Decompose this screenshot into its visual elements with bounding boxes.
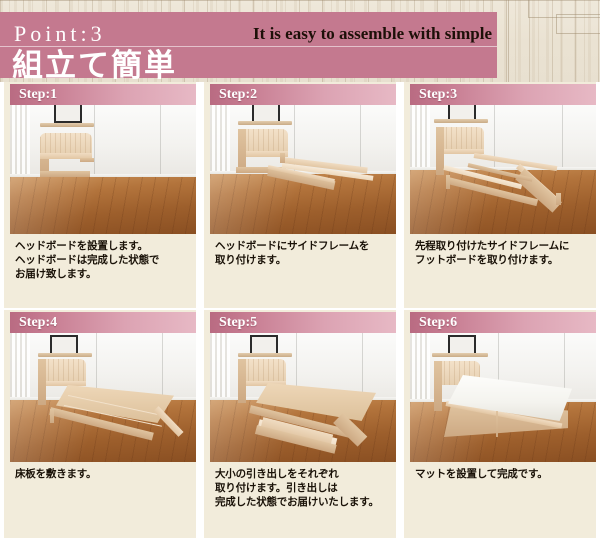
step-label-5: Step:5 xyxy=(219,314,257,331)
wall-shelf xyxy=(238,353,292,357)
base-drawer-seam xyxy=(496,411,498,437)
step-caption-6: マットを設置して完成です。 xyxy=(410,464,596,536)
headboard-leg xyxy=(238,359,246,403)
step-tag-1: Step:1 xyxy=(10,84,196,105)
headboard-panel xyxy=(40,133,92,155)
frame-leg-front xyxy=(446,175,450,189)
step-photo-5 xyxy=(210,333,396,462)
step-panel-1: Step:1 ヘッドボードを設置します。 ヘッドボードは完 xyxy=(4,82,196,310)
wall-shelf xyxy=(432,353,488,357)
right-edge xyxy=(596,82,600,548)
step-caption-text-5: 大小の引き出しをそれぞれ 取り付けます。引き出しは 完成した状態でお届けいたしま… xyxy=(210,464,396,510)
step-caption-1: ヘッドボードを設置します。 ヘッドボードは完成した状態で お届け致します。 xyxy=(10,236,196,308)
frame-connector xyxy=(280,153,285,163)
step-label-3: Step:3 xyxy=(419,86,457,103)
headboard-leg xyxy=(434,361,442,411)
curtain xyxy=(210,333,230,407)
step-caption-3: 先程取り付けたサイドフレームに フットボードを取り付けます。 xyxy=(410,236,596,308)
step-caption-text-6: マットを設置して完成です。 xyxy=(410,464,596,481)
headboard-leg xyxy=(38,359,46,405)
english-tagline: It is easy to assemble with simple xyxy=(172,24,492,44)
left-edge xyxy=(0,82,4,548)
wall-picture-frame xyxy=(250,335,278,355)
banner-divider xyxy=(0,46,497,47)
step-panel-5: Step:5 xyxy=(204,310,396,538)
step-panel-3: Step:3 xyxy=(404,82,596,310)
japanese-headline: 組立て簡単 xyxy=(12,48,177,84)
frame-leg-foot xyxy=(556,193,561,205)
step-photo-6 xyxy=(410,333,596,462)
curtain xyxy=(10,333,30,407)
steps-grid: Step:1 ヘッドボードを設置します。 ヘッドボードは完 xyxy=(0,82,600,548)
wall-picture-frame xyxy=(50,335,78,355)
step-panel-6: Step:6 xyxy=(404,310,596,538)
step-label-6: Step:6 xyxy=(419,314,457,331)
step-tag-3: Step:3 xyxy=(410,84,596,105)
step-panel-4: Step:4 xyxy=(4,310,196,538)
wall-shelf xyxy=(238,121,292,125)
step-label-1: Step:1 xyxy=(19,86,57,103)
row-gap xyxy=(0,308,600,310)
step-photo-2 xyxy=(210,105,396,234)
curtain xyxy=(10,105,30,179)
step-label-2: Step:2 xyxy=(219,86,257,103)
step-caption-text-2: ヘッドボードにサイドフレームを 取り付けます。 xyxy=(210,236,396,267)
column-gap-2 xyxy=(396,82,404,548)
assembly-instruction-graphic: Point:3 It is easy to assemble with simp… xyxy=(0,0,600,548)
headboard-bracket xyxy=(80,158,94,162)
headboard-foot xyxy=(40,171,90,177)
wall-shelf xyxy=(434,119,488,123)
step-panel-2: Step:2 xyxy=(204,82,396,310)
frame-leg xyxy=(50,409,54,423)
wall-shelf xyxy=(40,123,94,127)
point-banner: Point:3 It is easy to assemble with simp… xyxy=(0,12,497,78)
column-gap-1 xyxy=(196,82,204,548)
step-photo-1 xyxy=(10,105,196,234)
step-caption-text-1: ヘッドボードを設置します。 ヘッドボードは完成した状態で お届け致します。 xyxy=(10,236,196,282)
curtain xyxy=(410,333,430,407)
step-tag-5: Step:5 xyxy=(210,312,396,333)
point-label: Point:3 xyxy=(14,23,106,45)
step-photo-4 xyxy=(10,333,196,462)
curtain xyxy=(210,105,230,179)
step-photo-3 xyxy=(410,105,596,234)
step-caption-5: 大小の引き出しをそれぞれ 取り付けます。引き出しは 完成した状態でお届けいたしま… xyxy=(210,464,396,536)
step-caption-2: ヘッドボードにサイドフレームを 取り付けます。 xyxy=(210,236,396,308)
wood-panel-seam-2 xyxy=(556,14,600,34)
step-tag-6: Step:6 xyxy=(410,312,596,333)
step-caption-text-4: 床板を敷きます。 xyxy=(10,464,196,481)
step-tag-4: Step:4 xyxy=(10,312,196,333)
wall-picture-frame xyxy=(448,335,476,355)
wall-picture-frame xyxy=(54,105,82,123)
step-caption-text-3: 先程取り付けたサイドフレームに フットボードを取り付けます。 xyxy=(410,236,596,267)
wall-shelf xyxy=(38,353,92,357)
step-caption-4: 床板を敷きます。 xyxy=(10,464,196,536)
step-tag-2: Step:2 xyxy=(210,84,396,105)
room-wall xyxy=(10,105,196,179)
step-label-4: Step:4 xyxy=(19,314,57,331)
